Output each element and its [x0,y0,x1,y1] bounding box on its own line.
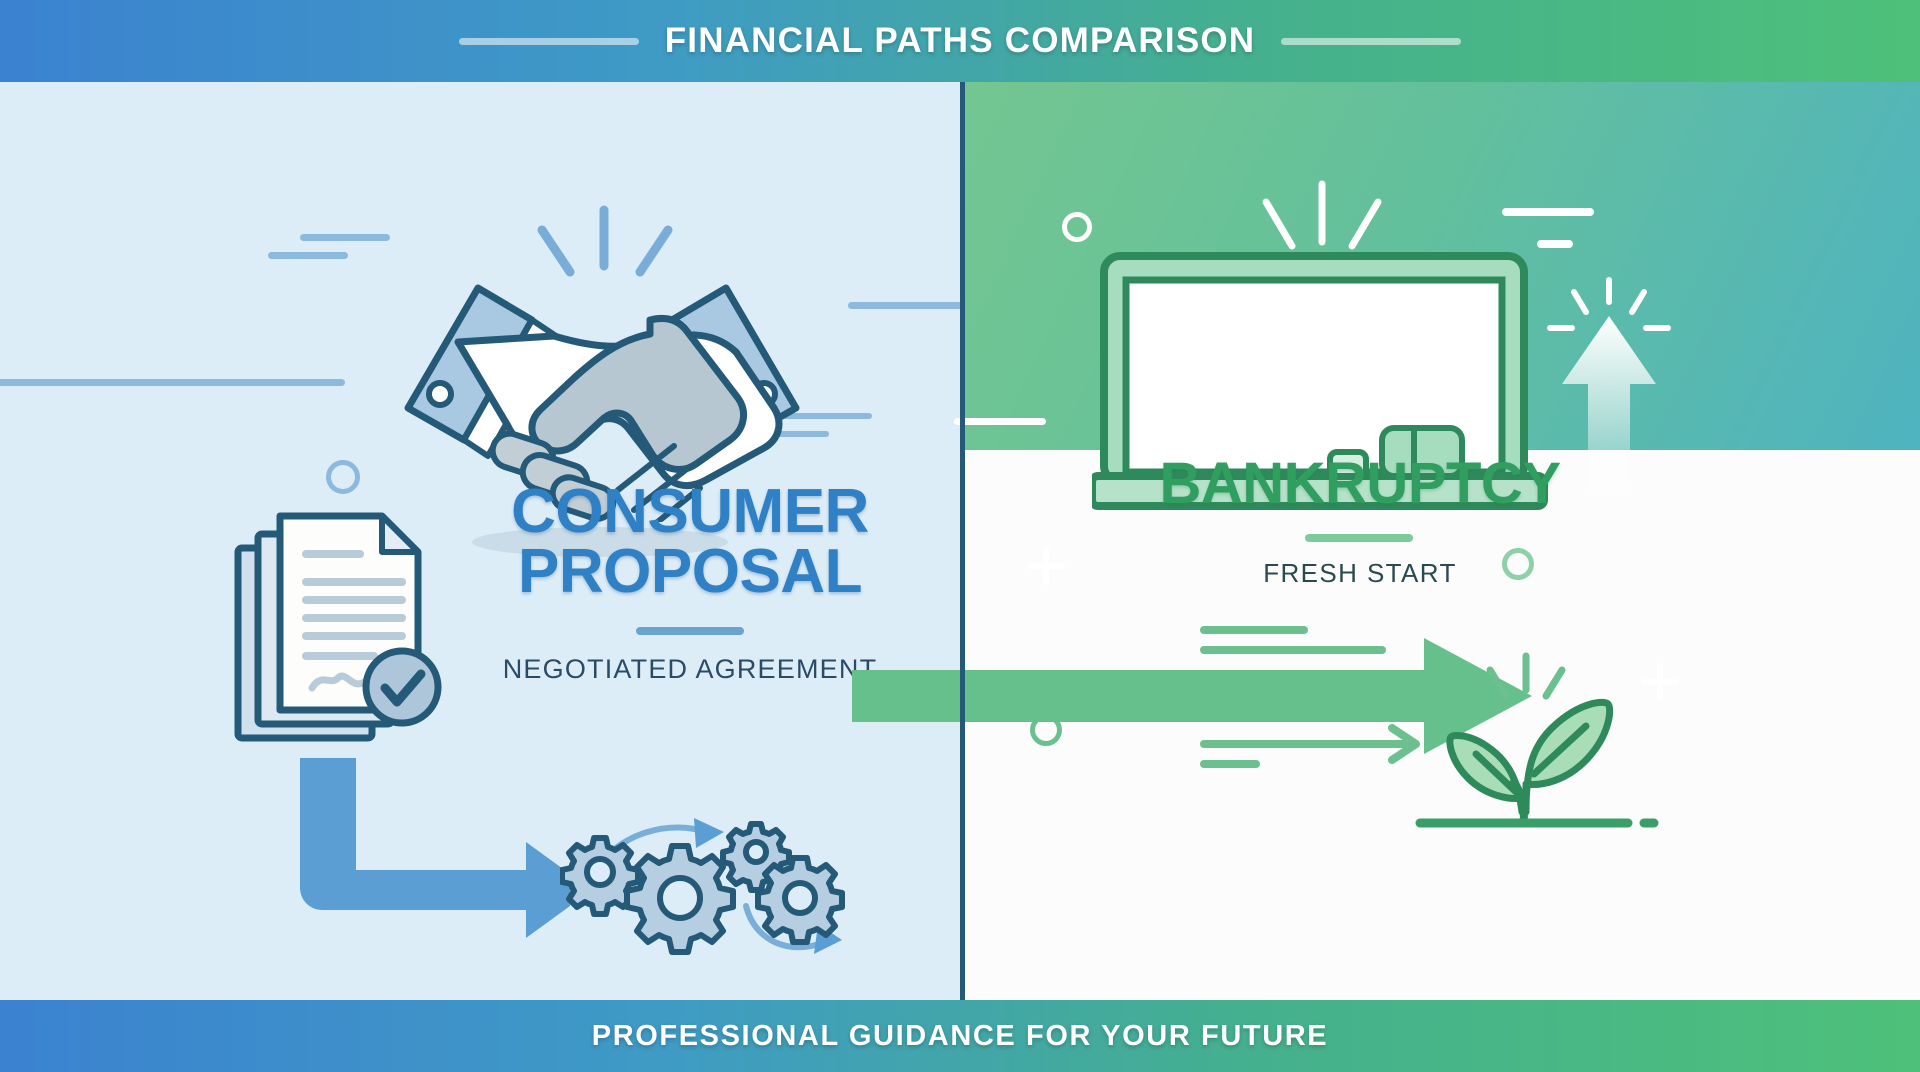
deco-line-a [300,234,390,241]
deco-line-b [268,252,348,259]
header-bar: FINANCIAL PATHS COMPARISON [0,0,1920,82]
deco-line-i [1537,240,1573,248]
deco-ring-a [326,460,360,494]
panel-bankruptcy-gradient [962,82,1920,450]
check-badge-icon [366,651,438,723]
footer-tagline: PROFESSIONAL GUIDANCE FOR YOUR FUTURE [592,1020,1328,1053]
gears-icon [560,810,870,960]
deco-plus-a [1024,544,1068,588]
page-title: FINANCIAL PATHS COMPARISON [665,21,1256,61]
left-panel-title: CONSUMER PROPOSAL [480,482,900,601]
deco-line-c [0,379,345,386]
right-panel-subtitle: FRESH START [1140,558,1580,589]
panel-consumer-proposal: CONSUMER PROPOSAL NEGOTIATED AGREEMENT [0,82,962,1000]
deco-line-h [1502,208,1594,216]
comparison-stage: CONSUMER PROPOSAL NEGOTIATED AGREEMENT [0,82,1920,1000]
left-title-line1: CONSUMER [480,482,900,542]
left-title-line2: PROPOSAL [480,542,900,602]
left-title-rule [636,627,744,635]
panel-divider [960,82,965,1000]
document-stack-icon [232,510,444,760]
header-rule-right [1281,38,1461,45]
panel-bankruptcy: BANKRUPTCY FRESH START [962,82,1920,1000]
infographic-canvas: FINANCIAL PATHS COMPARISON [0,0,1920,1072]
right-panel-title: BANKRUPTCY [1140,450,1580,517]
elbow-arrow-icon [300,758,570,938]
footer-bar: PROFESSIONAL GUIDANCE FOR YOUR FUTURE [0,1000,1920,1072]
handshake-icon [392,202,812,522]
right-title-rule [1305,534,1413,542]
deco-line-g [954,418,1046,425]
left-panel-subtitle: NEGOTIATED AGREEMENT [480,654,900,685]
deco-ring-b [1062,212,1092,242]
header-rule-left [459,38,639,45]
sprout-icon [1414,634,1674,834]
